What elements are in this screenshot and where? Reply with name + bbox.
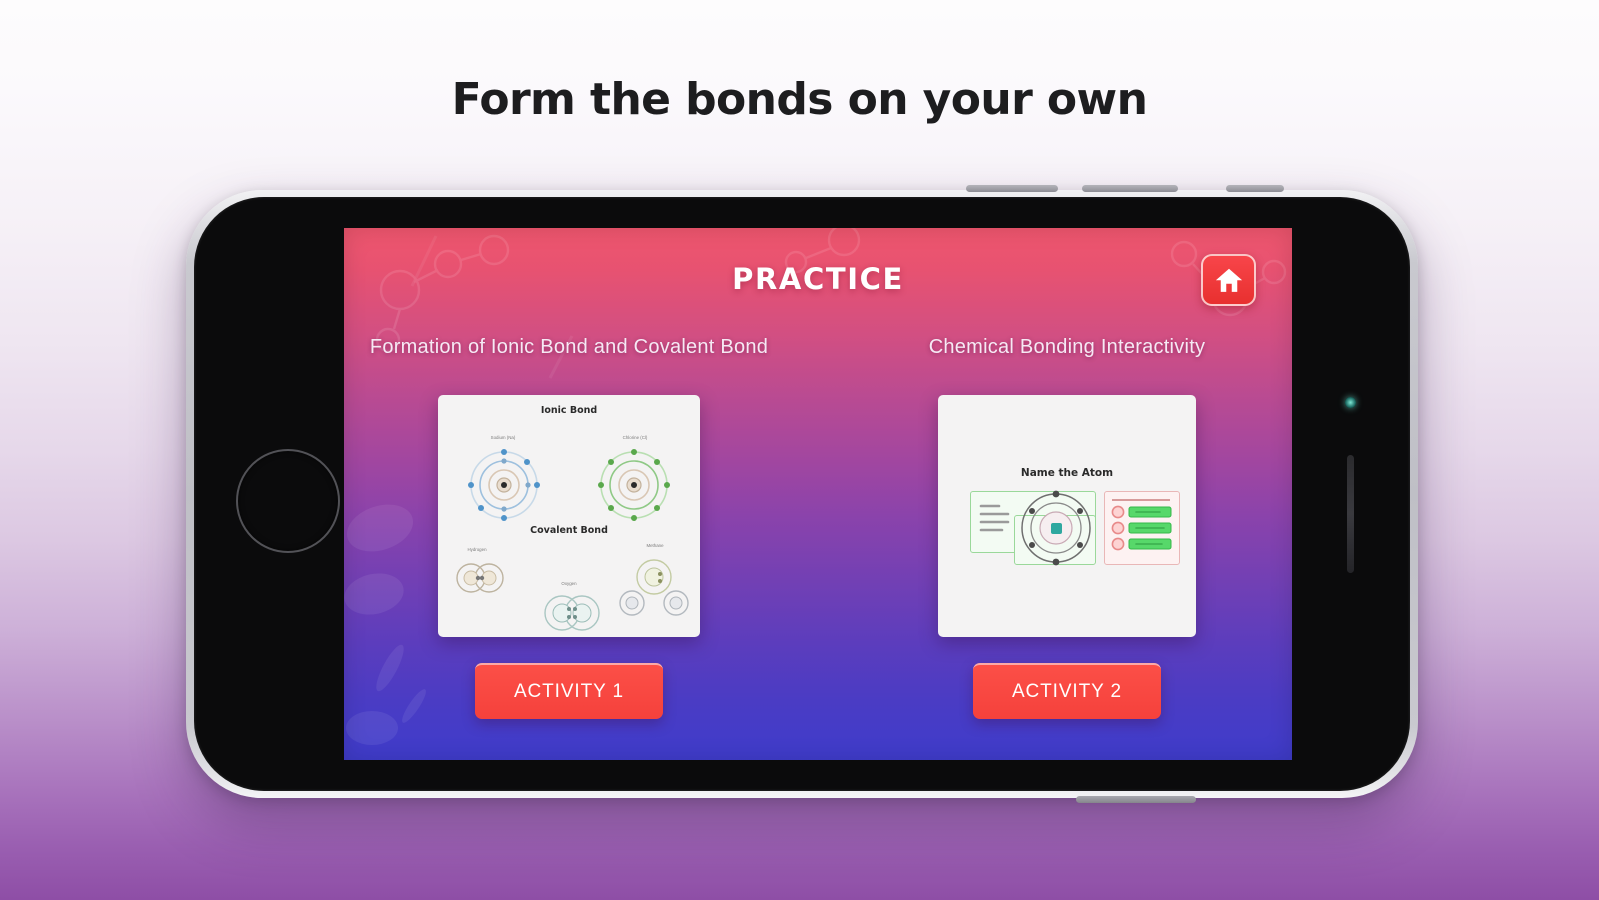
home-icon[interactable] xyxy=(1201,254,1256,306)
volume-button-2[interactable] xyxy=(1082,185,1178,192)
atom-diagram-generic xyxy=(1018,487,1094,569)
atom-diagram-sodium xyxy=(466,447,542,523)
thumb-caption-sodium: Sodium (Na) xyxy=(468,435,538,440)
answer-lines-icon xyxy=(978,501,1014,535)
app-screen: PRACTICE Formation of Ionic Bond and Cov… xyxy=(344,228,1292,760)
thumb-heading-name-atom: Name the Atom xyxy=(938,467,1196,479)
thumbnail-name-the-atom[interactable]: Name the Atom xyxy=(938,395,1196,637)
earpiece-speaker-icon xyxy=(1347,455,1354,573)
activity-2-button[interactable]: ACTIVITY 2 xyxy=(973,663,1161,719)
thumb-caption-chlorine: Chlorine (Cl) xyxy=(600,435,670,440)
camera-dot-icon xyxy=(1345,397,1356,408)
volume-button-1[interactable] xyxy=(966,185,1058,192)
thumb-heading-ionic: Ionic Bond xyxy=(438,405,700,416)
column-activity-2: Chemical Bonding Interactivity Name the … xyxy=(852,336,1282,719)
page-headline: Form the bonds on your own xyxy=(0,74,1599,125)
thumb-caption-hydrogen: Hydrogen xyxy=(442,547,512,552)
thumb-caption-oxygen: Oxygen xyxy=(534,581,604,586)
thumb-caption-methane: Methane xyxy=(620,543,690,548)
thumbnail-ionic-covalent[interactable]: Ionic Bond Sodium (Na) Chlorine (Cl) xyxy=(438,395,700,637)
molecule-hydrogen xyxy=(452,560,508,596)
molecule-methane xyxy=(616,555,692,619)
column-label-2: Chemical Bonding Interactivity xyxy=(852,336,1282,359)
app-title: PRACTICE xyxy=(344,262,1292,296)
activity-1-button[interactable]: ACTIVITY 1 xyxy=(475,663,663,719)
column-label-1: Formation of Ionic Bond and Covalent Bon… xyxy=(354,336,784,359)
thumb-heading-covalent: Covalent Bond xyxy=(438,525,700,536)
element-list xyxy=(1108,494,1178,562)
column-activity-1: Formation of Ionic Bond and Covalent Bon… xyxy=(354,336,784,719)
phone-device: PRACTICE Formation of Ionic Bond and Cov… xyxy=(186,190,1418,798)
home-button[interactable] xyxy=(236,449,340,553)
atom-diagram-chlorine xyxy=(596,447,672,523)
power-button[interactable] xyxy=(1226,185,1284,192)
molecule-oxygen xyxy=(542,593,602,633)
bottom-port xyxy=(1076,796,1196,803)
phone-bezel: PRACTICE Formation of Ionic Bond and Cov… xyxy=(194,197,1410,791)
house-glyph xyxy=(1214,265,1244,295)
